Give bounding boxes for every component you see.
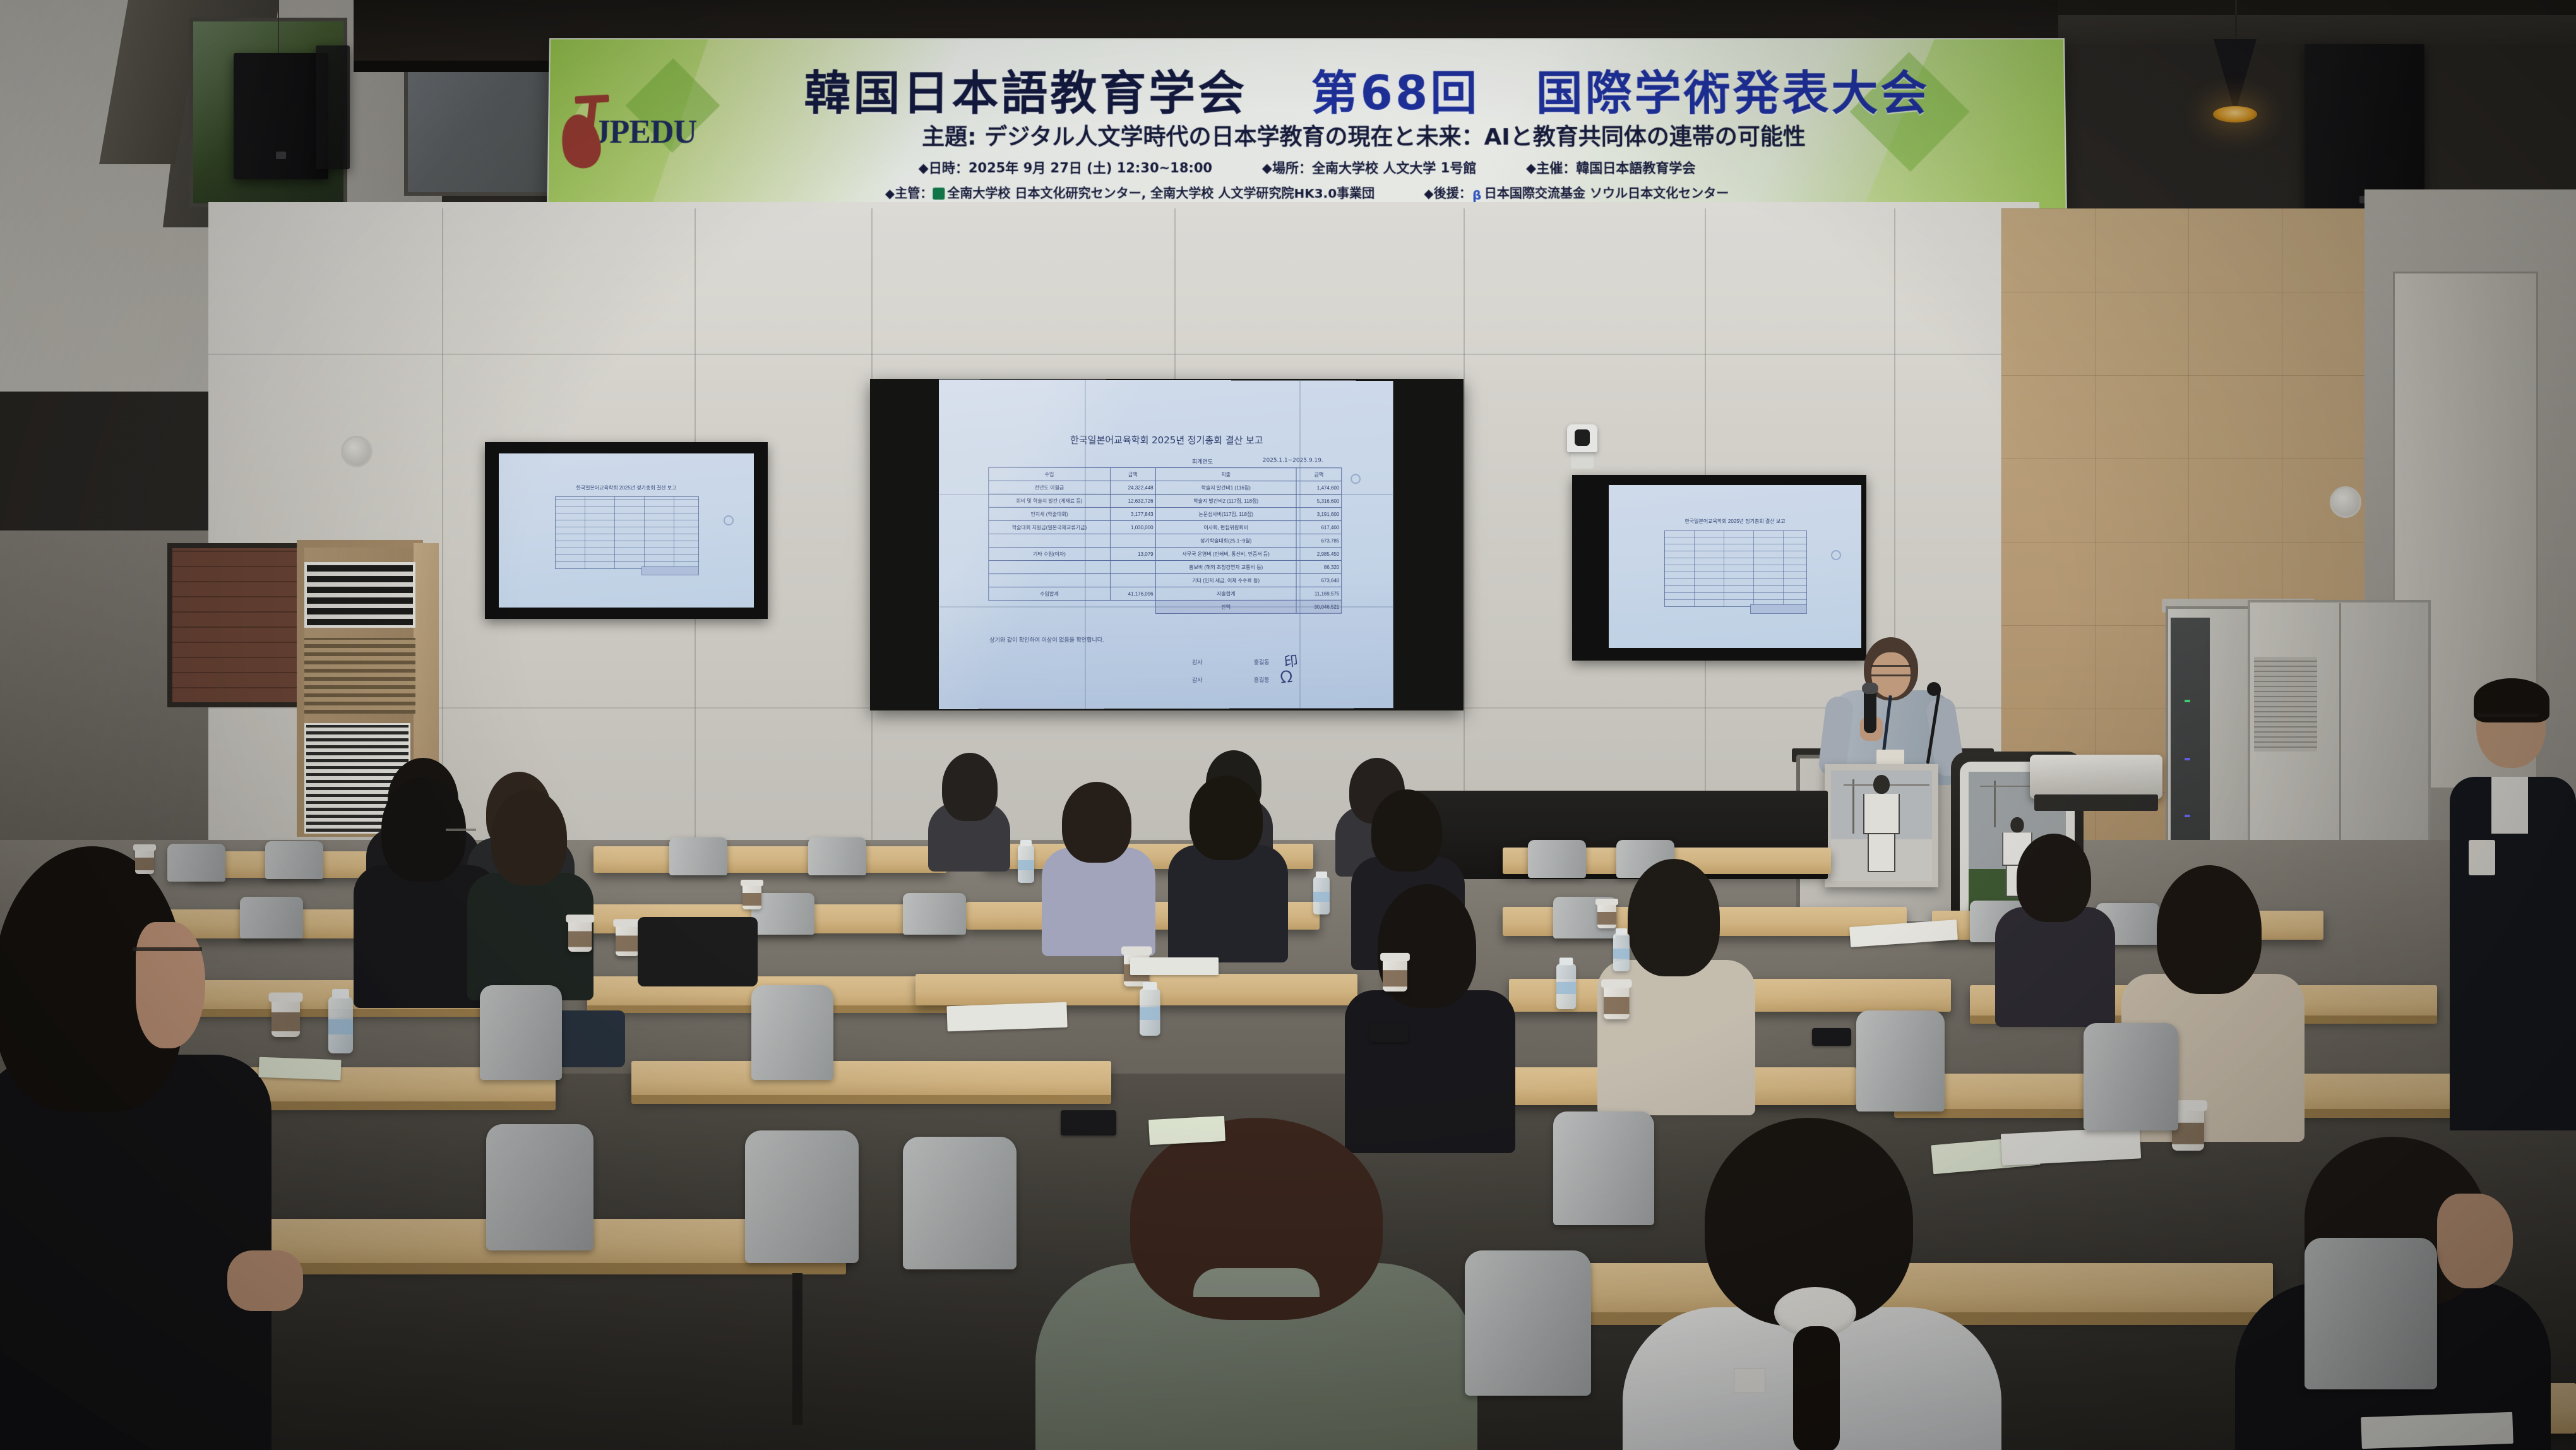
standing-attendee-badge — [2469, 840, 2495, 875]
banner-subject-label: 主題: — [922, 124, 977, 150]
water-bottle-2[interactable] — [1018, 845, 1034, 883]
foreground-attendee-center — [1035, 1118, 1477, 1450]
ceiling-speaker-left-back — [316, 45, 350, 169]
slide-period-value: 2025.1.1~2025.9.19. — [1263, 457, 1323, 464]
signer-name-1: 홍길동 — [1254, 658, 1270, 666]
wall-panel-hseam-1 — [208, 354, 2039, 355]
desk-row-a-2 — [593, 846, 947, 873]
poster-pole — [1852, 779, 1854, 834]
water-bottle-1[interactable] — [328, 997, 353, 1053]
screen-seam-v — [1085, 380, 1086, 709]
foreground-attendee-glasses-icon — [133, 947, 202, 962]
banner-organizer-label: ◆主管： — [885, 186, 933, 201]
brick-alcove — [167, 543, 313, 707]
cabinet-vent — [2254, 657, 2317, 752]
table-total-row: 수입합계41,176,096지출합계11,169,575 — [989, 587, 1342, 600]
presenter-glasses-icon — [1871, 665, 1911, 676]
standing-attendee-shirt — [2491, 777, 2528, 834]
banner-place-label: ◆場所： — [1262, 160, 1312, 176]
table-row: 인지세 (학술대회)3,177,843논문심사비(117집, 118집)3,19… — [989, 507, 1342, 520]
banner-info-line-2: ◆主管：全南大学校 日本文化研究センター, 全南大学校 人文学研究院HK3.0事… — [548, 183, 2065, 201]
banner-support-value: 日本国際交流基金 ソウル日本文化センター — [1484, 186, 1729, 201]
attendee-b-6 — [1995, 834, 2115, 1023]
garment-tag — [1734, 1368, 1765, 1393]
table-row: 회비 및 학술지 발간 (게재료 등)12,632,726학술지 발간비2 (1… — [989, 494, 1342, 507]
printer-base — [2034, 794, 2158, 811]
desk-leg-e-2 — [792, 1273, 802, 1425]
foreground-center-collar — [1193, 1268, 1320, 1297]
desk-row-d-2 — [631, 1061, 1111, 1099]
conference-banner: JPEDU 韓国日本語教育学会 第68回 国際学術発表大会 主題: デジタル人文… — [547, 38, 2067, 224]
bag-on-chair-1[interactable] — [638, 917, 758, 986]
rack-led-1 — [2185, 700, 2190, 702]
wall-speaker-left-icon — [341, 436, 373, 467]
table-row: 홍보비 (해외 초청강연자 교통비 등)86,320 — [989, 560, 1342, 573]
signer-role-1: 감사 — [1192, 658, 1203, 666]
table-row: 기타 수입(이자)13,079사무국 운영비 (인쇄비, 통신비, 인증서 등)… — [989, 547, 1342, 560]
coffee-cup-1[interactable] — [135, 848, 154, 874]
slide-cursor-dot — [1351, 474, 1361, 484]
rollup-pole — [1994, 781, 1996, 827]
th-income: 수입 — [989, 467, 1110, 481]
handout-4[interactable] — [2361, 1412, 2513, 1449]
coffee-cup-9[interactable] — [1597, 902, 1616, 928]
attendee-c-right-b — [1345, 884, 1515, 1149]
banner-title-issue: 第68回 — [1311, 66, 1479, 121]
right-monitor: 한국일본어교육학회 2025년 정기총회 결산 보고 — [1572, 475, 1866, 661]
water-bottle-3[interactable] — [1313, 877, 1330, 914]
desktop-printer — [2030, 755, 2162, 799]
wall-panel-seam-1 — [442, 208, 443, 840]
ptz-camera-lens-icon — [1575, 429, 1590, 446]
screen-seam-v2 — [1299, 380, 1301, 709]
microphone-head-icon — [1862, 683, 1878, 694]
far-right-face — [2437, 1194, 2513, 1288]
screen-seam-h — [939, 494, 1394, 495]
banner-date-value: 2025年 9月 27日 (土) 12:30~18:00 — [969, 160, 1212, 176]
table-row: 전년도 이월금24,322,448학술지 발간비1 (116집)1,474,60… — [989, 481, 1342, 494]
settlement-table: 수입 금액 지출 금액 전년도 이월금24,322,448학술지 발간비1 (1… — [988, 467, 1342, 614]
banner-subject-line: 主題: デジタル人文学時代の日本学教育の現在と未来：AIと教育共同体の連帯の可能… — [676, 119, 2053, 152]
pendant-lamp-shade — [2214, 39, 2257, 114]
poster-left — [1825, 764, 1938, 887]
speaker-wire-left — [278, 0, 279, 54]
organizer-badge-icon — [933, 188, 945, 200]
rack-led-2 — [2185, 758, 2190, 760]
signer-role-2: 감사 — [1192, 676, 1203, 684]
smartphone-1[interactable] — [1061, 1110, 1116, 1135]
attendee-c-left-b — [467, 789, 593, 998]
banner-host-label: ◆主催： — [1526, 160, 1576, 176]
standing-attendee-glasses-icon — [2478, 714, 2538, 726]
coffee-cup-2[interactable] — [271, 997, 300, 1037]
attendee-b-4 — [1168, 776, 1288, 959]
foreground-attendee-left — [0, 846, 271, 1450]
th-expense-amount: 금액 — [1296, 468, 1342, 481]
podium-mic-capsule-icon — [1927, 682, 1941, 696]
handout-1[interactable] — [946, 1002, 1067, 1032]
support-badge-icon: β — [1472, 188, 1482, 200]
ceiling-speaker-left — [234, 53, 328, 179]
air-conditioner-wood-grill — [304, 638, 415, 714]
pendant-lamp-glow — [2213, 106, 2257, 123]
smartphone-3[interactable] — [1812, 1028, 1851, 1046]
table-row: 기타 (인지 세금, 이체 수수료 등)673,640 — [989, 573, 1342, 587]
wall-speaker-right-icon — [2330, 486, 2361, 518]
banner-organizer-value: 全南大学校 日本文化研究センター, 全南大学校 人文学研究院HK3.0事業団 — [947, 186, 1374, 201]
banner-place-value: 全南大学校 人文大学 1号館 — [1312, 160, 1476, 176]
wall-panel-seam-5 — [1464, 208, 1465, 840]
left-monitor: 한국일본어교육학회 2025년 정기총회 결산 보고 — [485, 442, 768, 619]
banner-date-label: ◆日時： — [919, 160, 969, 176]
left-monitor-slide-title: 한국일본어교육학회 2025년 정기총회 결산 보고 — [499, 484, 754, 491]
attendee-far-1 — [928, 753, 1010, 866]
banner-title-tail: 国際学術発表大会 — [1536, 66, 1930, 121]
coffee-cup-10[interactable] — [742, 883, 761, 909]
table-header-row: 수입 금액 지출 금액 — [989, 467, 1342, 481]
water-bottle-5[interactable] — [1556, 964, 1576, 1009]
slide-title: 한국일본어교육학회 2025년 정기총회 결산 보고 — [939, 433, 1393, 446]
table-row: 정기학술대회(25.1~9월)673,785 — [989, 534, 1342, 547]
banner-subject-text: デジタル人文学時代の日本学教育の現在と未来：AIと教育共同体の連帯の可能性 — [984, 124, 1806, 150]
desk-edge-d-2 — [631, 1095, 1111, 1104]
poster-figure — [1863, 775, 1900, 872]
banner-title: 韓国日本語教育学会 第68回 国際学術発表大会 — [695, 56, 2039, 123]
banner-title-main: 韓国日本語教育学会 — [804, 66, 1247, 121]
right-monitor-screen: 한국일본어교육학회 2025년 정기총회 결산 보고 — [1609, 485, 1861, 648]
coffee-cup-7[interactable] — [1604, 983, 1630, 1019]
left-monitor-screen: 한국일본어교육학회 2025년 정기총회 결산 보고 — [499, 453, 754, 608]
conference-room-photo: JPEDU 韓国日本語教育学会 第68回 国際学術発表大会 主題: デジタル人文… — [0, 0, 2576, 1450]
coffee-cup-4[interactable] — [616, 923, 640, 957]
attendee-b-3 — [1042, 782, 1155, 952]
projected-slide: 한국일본어교육학회 2025년 정기총회 결산 보고 회계연도 2025.1.1… — [939, 380, 1393, 709]
signature-2: ᘯ — [1279, 668, 1294, 688]
ptz-camera-mount — [1571, 452, 1594, 469]
rack-led-3 — [2185, 815, 2190, 817]
screen-seam-h2 — [939, 606, 1394, 608]
th-income-amount: 금액 — [1110, 467, 1155, 481]
coffee-cup-3[interactable] — [568, 919, 592, 952]
banner-host-value: 韓国日本語教育学会 — [1576, 160, 1695, 176]
program-booklet-1[interactable] — [1148, 1116, 1225, 1145]
air-conditioner-vent-top — [304, 562, 415, 628]
right-monitor-slide-title: 한국일본어교육학회 2025년 정기총회 결산 보고 — [1609, 518, 1861, 525]
foreground-attendee-face — [136, 922, 205, 1048]
smartphone-2[interactable] — [1370, 1024, 1408, 1042]
handout-5[interactable] — [1130, 957, 1219, 975]
foreground-attendee-hand — [227, 1250, 303, 1311]
water-bottle-4[interactable] — [1140, 988, 1160, 1036]
signer-name-2: 홍길동 — [1254, 676, 1270, 684]
program-booklet-3[interactable] — [258, 1057, 341, 1081]
pendant-lamp-wire — [2235, 0, 2237, 44]
water-bottle-6[interactable] — [1613, 933, 1630, 971]
banner-info-line-1: ◆日時：2025年 9月 27日 (土) 12:30~18:00 ◆場所：全南大… — [549, 158, 2065, 177]
coffee-cup-6[interactable] — [1383, 957, 1407, 992]
table-row: 학술대회 지원금(일본국제교류기금)1,030,000이사회, 편집위원회비61… — [989, 520, 1342, 534]
standing-attendee-suit — [2450, 682, 2576, 1137]
slide-footnote: 상기와 같이 확인하여 이상이 없음을 확인합니다. — [989, 635, 1104, 644]
th-expense: 지출 — [1155, 467, 1296, 481]
banner-support-label: ◆後援： — [1424, 186, 1472, 201]
ponytail — [1793, 1326, 1840, 1450]
slide-period-label: 회계연도 — [1192, 457, 1213, 465]
